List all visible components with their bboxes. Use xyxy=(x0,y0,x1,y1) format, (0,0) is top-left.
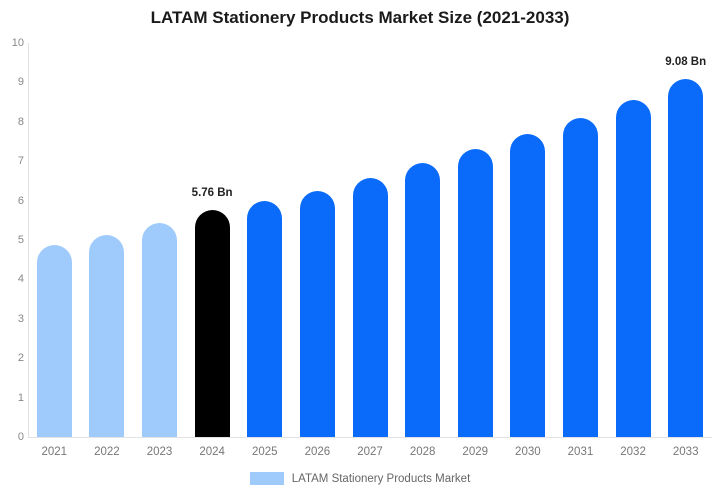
bar-2026[interactable] xyxy=(300,191,335,437)
x-axis-tick-label-2021: 2021 xyxy=(32,446,76,458)
y-axis-tick-label: 5 xyxy=(2,234,24,246)
x-axis-tick-label-2030: 2030 xyxy=(506,446,550,458)
bar-2021[interactable] xyxy=(37,245,72,437)
x-axis-tick-label-2028: 2028 xyxy=(401,446,445,458)
bar-2027[interactable] xyxy=(353,178,388,437)
bar-value-label-2033: 9.08 Bn xyxy=(665,56,706,68)
x-axis-tick-label-2025: 2025 xyxy=(243,446,287,458)
bar-value-label-2024: 5.76 Bn xyxy=(192,187,233,199)
x-axis-tick-label-2024: 2024 xyxy=(190,446,234,458)
y-axis-tick-label: 0 xyxy=(2,431,24,443)
y-axis-tick-label: 1 xyxy=(2,392,24,404)
y-axis-tick-labels: 012345678910 xyxy=(0,0,24,500)
y-axis-tick-label: 3 xyxy=(2,313,24,325)
x-axis-tick-label-2032: 2032 xyxy=(611,446,655,458)
bar-2025[interactable] xyxy=(247,201,282,437)
chart-container: LATAM Stationery Products Market Size (2… xyxy=(0,0,720,500)
bar-2030[interactable] xyxy=(510,134,545,437)
y-axis-tick-label: 2 xyxy=(2,352,24,364)
x-axis-tick-label-2027: 2027 xyxy=(348,446,392,458)
x-axis-tick-label-2022: 2022 xyxy=(85,446,129,458)
x-axis-tick-label-2026: 2026 xyxy=(295,446,339,458)
x-axis-tick-label-2031: 2031 xyxy=(558,446,602,458)
bar-2028[interactable] xyxy=(405,163,440,437)
plot-area xyxy=(28,43,712,437)
bar-2022[interactable] xyxy=(89,235,124,437)
chart-title: LATAM Stationery Products Market Size (2… xyxy=(0,8,720,28)
legend-label: LATAM Stationery Products Market xyxy=(292,473,471,485)
y-axis-tick-label: 6 xyxy=(2,195,24,207)
x-axis-line xyxy=(28,437,712,438)
chart-legend: LATAM Stationery Products Market xyxy=(0,472,720,485)
y-axis-tick-label: 7 xyxy=(2,155,24,167)
bar-2033[interactable] xyxy=(668,79,703,437)
x-axis-tick-label-2023: 2023 xyxy=(138,446,182,458)
bar-2029[interactable] xyxy=(458,149,493,437)
y-axis-tick-label: 4 xyxy=(2,273,24,285)
y-axis-tick-label: 10 xyxy=(2,37,24,49)
x-axis-tick-label-2029: 2029 xyxy=(453,446,497,458)
bar-2032[interactable] xyxy=(616,100,651,437)
x-axis-tick-label-2033: 2033 xyxy=(664,446,708,458)
legend-swatch-icon xyxy=(250,472,284,485)
y-axis-tick-label: 9 xyxy=(2,76,24,88)
bar-2023[interactable] xyxy=(142,223,177,437)
y-axis-tick-label: 8 xyxy=(2,116,24,128)
bar-2024[interactable] xyxy=(195,210,230,437)
bar-2031[interactable] xyxy=(563,118,598,437)
